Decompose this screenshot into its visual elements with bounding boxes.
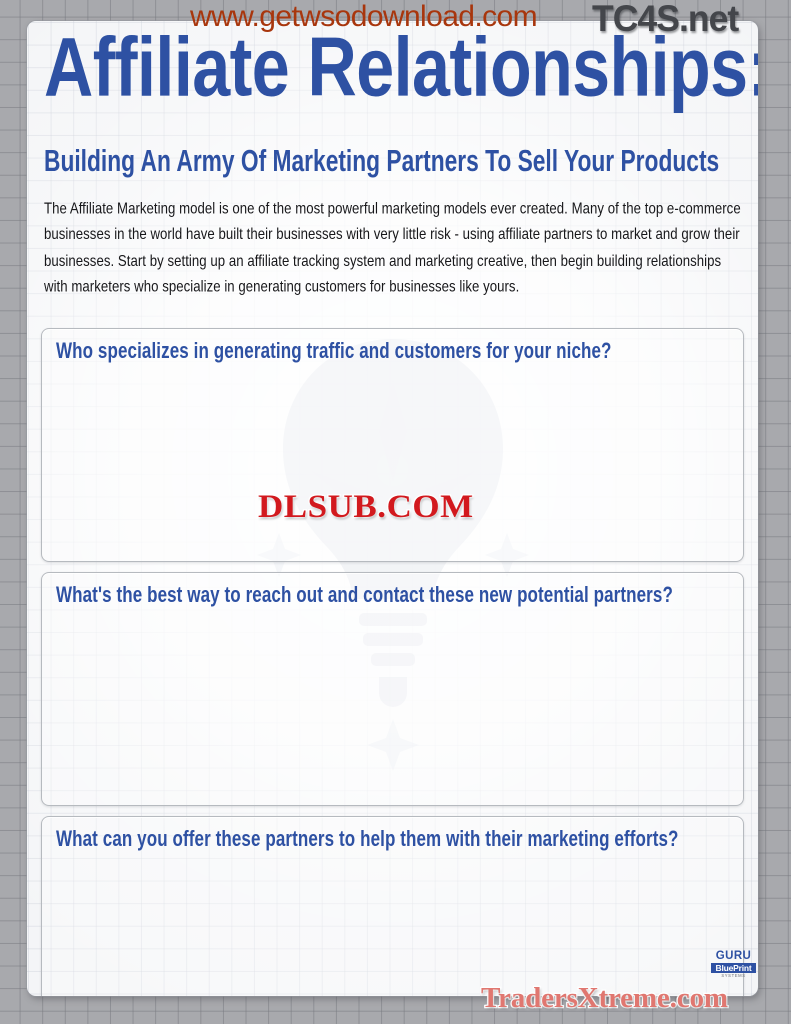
header-block: Affiliate Relationships: Building An Arm… [41, 30, 744, 281]
question-box-3: What can you offer these partners to hel… [41, 816, 744, 996]
page-title: Affiliate Relationships: [44, 30, 758, 108]
question-label-3: What can you offer these partners to hel… [56, 828, 729, 850]
page-subtitle: Building An Army Of Marketing Partners T… [44, 146, 737, 176]
worksheet-page: Affiliate Relationships: Building An Arm… [0, 0, 791, 1024]
question-box-1: Who specializes in generating traffic an… [41, 328, 744, 562]
answer-area-3[interactable] [42, 859, 743, 996]
question-label-1: Who specializes in generating traffic an… [56, 340, 729, 362]
questions-list: Who specializes in generating traffic an… [41, 328, 744, 996]
answer-area-1[interactable] [42, 371, 743, 561]
worksheet-card: Affiliate Relationships: Building An Arm… [27, 21, 758, 996]
question-label-2: What's the best way to reach out and con… [56, 584, 729, 606]
answer-area-2[interactable] [42, 615, 743, 805]
question-box-2: What's the best way to reach out and con… [41, 572, 744, 806]
card-content: Affiliate Relationships: Building An Arm… [27, 30, 758, 996]
intro-paragraph: The Affiliate Marketing model is one of … [44, 195, 744, 299]
